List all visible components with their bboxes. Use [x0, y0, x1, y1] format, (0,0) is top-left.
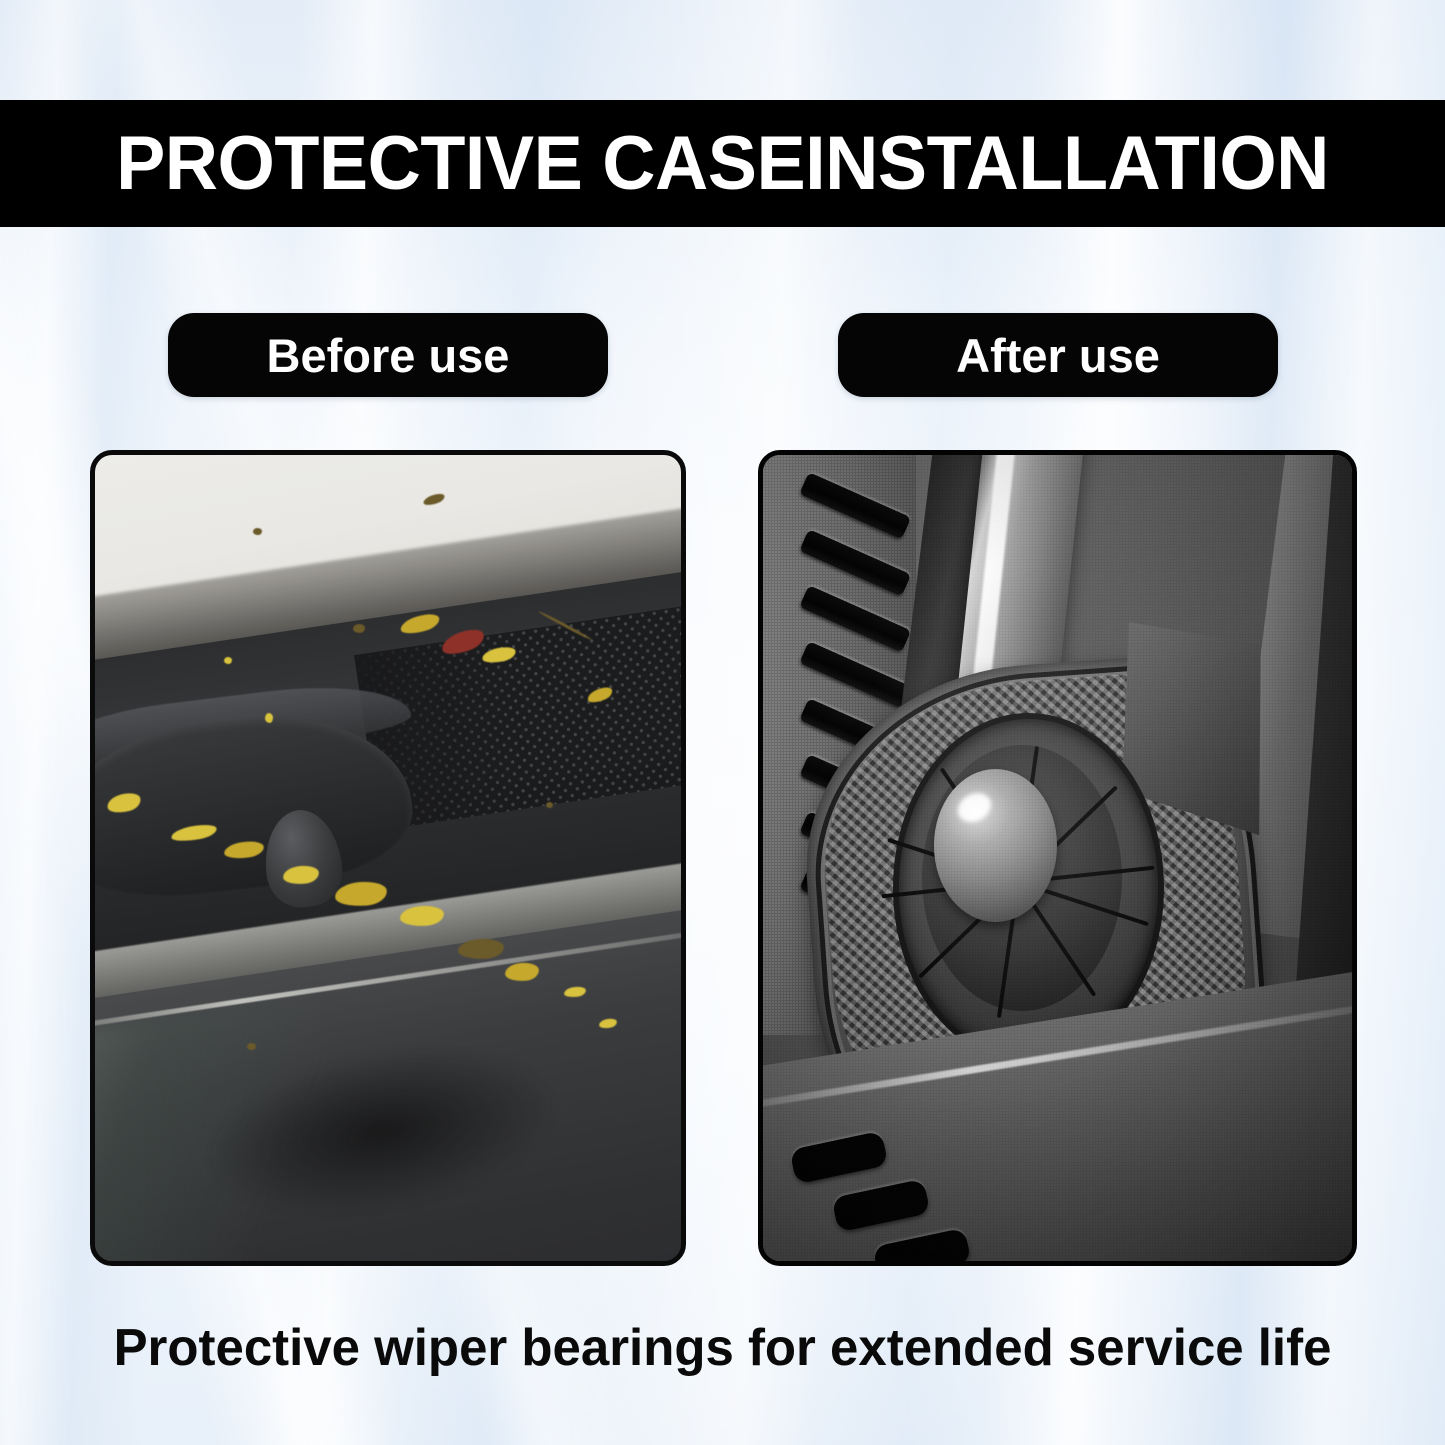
debris-speck [353, 624, 365, 633]
before-use-label: Before use [267, 332, 510, 379]
page-title: PROTECTIVE CASEINSTALLATION [22, 126, 1424, 202]
photo-after-use [758, 450, 1357, 1266]
photo-before-use [90, 450, 686, 1266]
photo-before-content [95, 455, 681, 1261]
product-infographic: PROTECTIVE CASEINSTALLATION Before use A… [0, 0, 1445, 1445]
label-before-use: Before use [168, 313, 608, 397]
debris-speck [253, 528, 262, 535]
debris-speck [546, 802, 553, 808]
photo-after-content [763, 455, 1352, 1261]
wiper-pivot-nut-cap [934, 769, 1058, 922]
debris-speck [265, 713, 273, 723]
after-use-label: After use [956, 332, 1160, 379]
caption-text: Protective wiper bearings for extended s… [14, 1322, 1430, 1374]
header-banner: PROTECTIVE CASEINSTALLATION [0, 100, 1445, 227]
debris-speck [224, 657, 232, 664]
label-after-use: After use [838, 313, 1278, 397]
